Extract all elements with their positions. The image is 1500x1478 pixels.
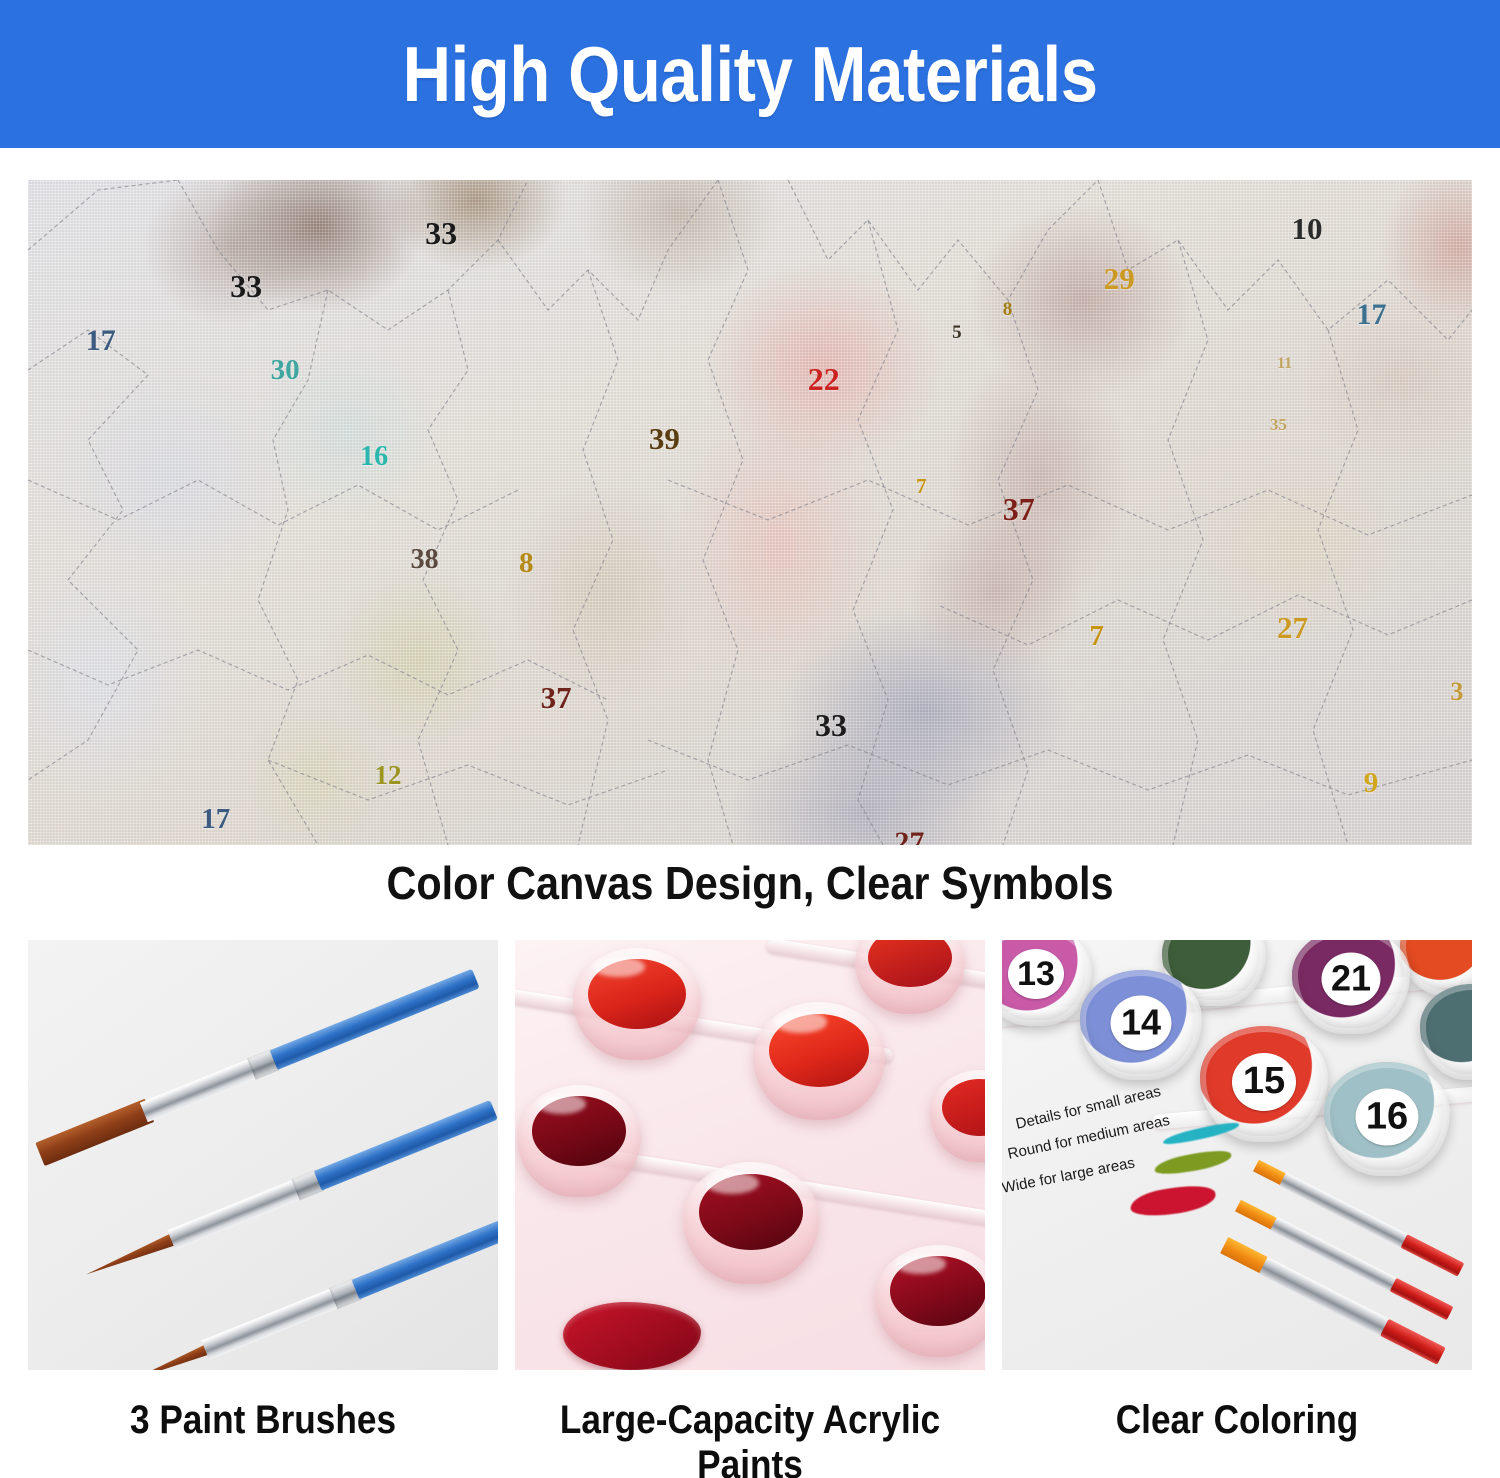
- brush-handle: [1390, 1278, 1454, 1320]
- dark-red-paint-pot: [517, 1085, 641, 1197]
- brush-ferrule: [167, 1175, 312, 1250]
- paint-gloss: [593, 957, 644, 977]
- dark-red-paint-pot: [875, 1245, 985, 1357]
- brush-ferrule: [201, 1284, 348, 1360]
- hero-canvas-image: 1733333016388392258729101711353737331217…: [28, 180, 1472, 845]
- canvas-number: 27: [894, 828, 924, 845]
- canvas-number: 39: [649, 423, 680, 454]
- panel-clear-coloring: 1314211516 Details for small areasRound …: [1002, 940, 1472, 1370]
- pot-number-label: 15: [1232, 1053, 1296, 1111]
- canvas-number: 30: [271, 356, 300, 385]
- canvas-number: 22: [808, 363, 840, 395]
- infographic-page: High Quality Materials 173333: [0, 0, 1500, 1478]
- page-title: High Quality Materials: [402, 29, 1097, 120]
- brush-bristles: [131, 1344, 211, 1370]
- pot-number-label: 13: [1008, 949, 1064, 999]
- canvas-number: 29: [1104, 263, 1135, 294]
- red-paint-pot: [573, 948, 701, 1060]
- paint-pot: [1420, 984, 1472, 1080]
- paint-blob: [563, 1302, 701, 1370]
- canvas-number: 17: [201, 805, 230, 834]
- hero-caption: Color Canvas Design, Clear Symbols: [75, 856, 1425, 910]
- canvas-number: 33: [815, 709, 847, 741]
- numbered-paint-pot: 14: [1080, 970, 1202, 1080]
- brush-bristles: [84, 1233, 178, 1281]
- panel-acrylic-paints: [515, 940, 985, 1370]
- header-banner: High Quality Materials: [0, 0, 1500, 148]
- caption-paint-brushes: 3 Paint Brushes: [56, 1398, 470, 1478]
- pot-number-label: 21: [1322, 952, 1381, 1005]
- canvas-number: 37: [1003, 493, 1035, 525]
- canvas-number: 37: [541, 682, 572, 713]
- panel-paint-brushes: [28, 940, 498, 1370]
- brush-handle: [352, 1215, 498, 1299]
- canvas-number: 38: [411, 546, 439, 574]
- pot-number-label: 16: [1356, 1088, 1419, 1145]
- canvas-number: 10: [1292, 213, 1323, 244]
- brush-handle: [270, 969, 480, 1070]
- caption-clear-coloring: Clear Coloring: [1030, 1398, 1444, 1478]
- numbered-paint-pot: 21: [1292, 940, 1410, 1034]
- brush-handle: [314, 1100, 498, 1191]
- red-paint-pot: [930, 1070, 985, 1162]
- dark-red-paint-pot: [683, 1162, 819, 1284]
- canvas-number: 16: [360, 443, 388, 471]
- canvas-number: 3: [1450, 679, 1463, 705]
- canvas-number: 9: [1364, 769, 1379, 798]
- brush-bristles: [35, 1099, 154, 1166]
- paint-gloss: [705, 1172, 759, 1194]
- canvas-number: 33: [425, 217, 457, 249]
- paint-gloss: [895, 1254, 945, 1274]
- paint-surface: [942, 1079, 985, 1136]
- pot-number-label: 14: [1111, 995, 1172, 1050]
- canvas-number: 33: [230, 270, 262, 302]
- canvas-number: 8: [519, 549, 534, 578]
- red-swatch: [1128, 1181, 1217, 1220]
- canvas-number: 11: [1277, 356, 1292, 372]
- canvas-number: 35: [1270, 416, 1287, 433]
- brush-handle: [1401, 1234, 1465, 1276]
- canvas-number: 5: [952, 323, 962, 342]
- paint-gloss: [774, 1011, 827, 1032]
- panel-captions: 3 Paint Brushes Large-Capacity Acrylic P…: [28, 1398, 1472, 1478]
- numbered-paint-pot: 16: [1324, 1062, 1450, 1176]
- feature-panels: 1314211516 Details for small areasRound …: [28, 940, 1472, 1370]
- red-paint-pot: [753, 1002, 885, 1120]
- pot-rim: [1420, 984, 1472, 1080]
- canvas-number: 7: [916, 476, 927, 497]
- canvas-number: 27: [1277, 612, 1308, 643]
- canvas-number: 8: [1003, 300, 1013, 319]
- red-paint-pot: [855, 940, 965, 1014]
- caption-acrylic-paints: Large-Capacity Acrylic Paints: [543, 1398, 957, 1478]
- canvas-number: 12: [375, 762, 402, 789]
- brush-hint-label: Wide for large areas: [1002, 1154, 1136, 1196]
- olive-swatch: [1153, 1147, 1233, 1179]
- paint-surface: [868, 940, 952, 987]
- canvas-number: 17: [1356, 300, 1386, 330]
- brush-handle: [1380, 1319, 1446, 1365]
- canvas-number: 17: [86, 326, 116, 356]
- canvas-number: 7: [1089, 622, 1104, 651]
